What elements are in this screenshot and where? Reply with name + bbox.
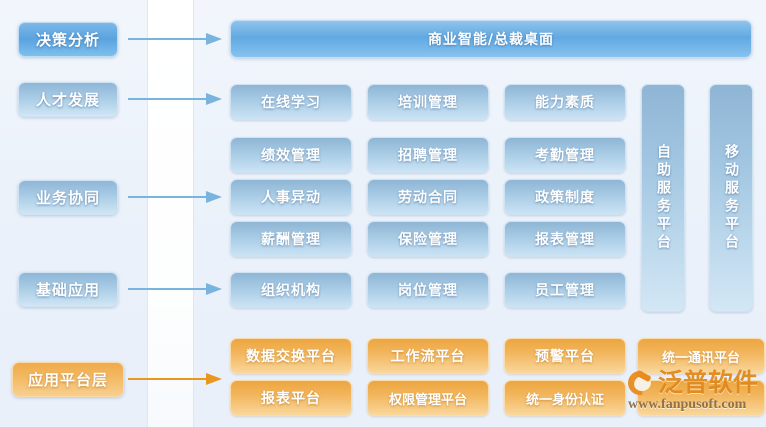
module-tile-label: 能力素质 [535, 92, 595, 112]
module-tile-compensation-management[interactable]: 薪酬管理 [230, 221, 352, 257]
module-tile-label: 考勤管理 [535, 145, 595, 165]
module-tile-label: 岗位管理 [398, 280, 458, 300]
arrow-head-icon [206, 93, 222, 105]
module-tile-label: 薪酬管理 [261, 229, 321, 249]
banner-business-intelligence[interactable]: 商业智能/总裁桌面 [230, 20, 752, 58]
arrow-shaft [128, 38, 208, 40]
platform-tile-label: 报表平台 [261, 388, 321, 408]
arrow-head-icon [206, 373, 222, 385]
vertical-bar-mobile-service-platform[interactable]: 移动服务平台 [709, 84, 753, 312]
stage-label-text: 业务协同 [36, 187, 100, 208]
module-tile-label: 政策制度 [535, 187, 595, 207]
arrow-head-icon [206, 283, 222, 295]
background-white-band [147, 0, 193, 427]
module-tile-attendance-management[interactable]: 考勤管理 [504, 137, 626, 173]
platform-tile-label: 权限管理平台 [389, 389, 467, 408]
platform-tile-obscured[interactable] [637, 380, 765, 416]
module-tile-online-learning[interactable]: 在线学习 [230, 84, 352, 120]
module-tile-label: 人事异动 [261, 187, 321, 207]
platform-tile-workflow[interactable]: 工作流平台 [367, 338, 489, 374]
vertical-bar-label: 自助服务平台 [653, 144, 673, 252]
platform-tile-data-exchange[interactable]: 数据交换平台 [230, 338, 352, 374]
stage-label-text: 决策分析 [36, 29, 100, 50]
module-tile-organization-structure[interactable]: 组织机构 [230, 272, 352, 308]
module-tile-label: 保险管理 [398, 229, 458, 249]
arrow-head-icon [206, 191, 222, 203]
stage-arrow-application-platform [128, 373, 222, 385]
module-tile-label: 劳动合同 [398, 187, 458, 207]
module-tile-policy-system[interactable]: 政策制度 [504, 179, 626, 215]
vertical-bar-label: 移动服务平台 [721, 144, 741, 252]
platform-tile-label: 数据交换平台 [246, 346, 336, 366]
vertical-bar-self-service-platform[interactable]: 自助服务平台 [641, 84, 685, 312]
module-tile-recruitment-management[interactable]: 招聘管理 [367, 137, 489, 173]
module-tile-performance-management[interactable]: 绩效管理 [230, 137, 352, 173]
module-tile-training-management[interactable]: 培训管理 [367, 84, 489, 120]
banner-label: 商业智能/总裁桌面 [428, 29, 554, 49]
stage-label-application-platform[interactable]: 应用平台层 [12, 362, 124, 397]
module-tile-label: 组织机构 [261, 280, 321, 300]
stage-arrow-decision-analysis [128, 33, 222, 45]
stage-arrow-business-collaboration [128, 191, 222, 203]
stage-label-text: 应用平台层 [28, 369, 108, 390]
stage-label-decision-analysis[interactable]: 决策分析 [18, 22, 118, 57]
guide-line-left [147, 0, 148, 427]
stage-label-text: 基础应用 [36, 279, 100, 300]
arrow-shaft [128, 378, 208, 380]
module-tile-label: 招聘管理 [398, 145, 458, 165]
platform-tile-label: 预警平台 [535, 346, 595, 366]
module-tile-insurance-management[interactable]: 保险管理 [367, 221, 489, 257]
arrow-shaft [128, 196, 208, 198]
platform-tile-label: 工作流平台 [391, 346, 466, 366]
platform-tile-authorization-management[interactable]: 权限管理平台 [367, 380, 489, 416]
platform-tile-reporting[interactable]: 报表平台 [230, 380, 352, 416]
platform-tile-label: 统一身份认证 [526, 389, 604, 408]
module-tile-label: 在线学习 [261, 92, 321, 112]
platform-tile-label: 统一通讯平台 [662, 347, 740, 366]
stage-label-talent-development[interactable]: 人才发展 [18, 82, 118, 117]
diagram-canvas: 决策分析 人才发展 业务协同 基础应用 应用平台层 商业智能/总裁桌面 在线学习 [0, 0, 766, 427]
platform-tile-unified-identity-authentication[interactable]: 统一身份认证 [504, 380, 626, 416]
platform-tile-early-warning[interactable]: 预警平台 [504, 338, 626, 374]
module-tile-label: 员工管理 [535, 280, 595, 300]
module-tile-personnel-change[interactable]: 人事异动 [230, 179, 352, 215]
stage-label-text: 人才发展 [36, 89, 100, 110]
module-tile-label: 培训管理 [398, 92, 458, 112]
module-tile-competency[interactable]: 能力素质 [504, 84, 626, 120]
stage-arrow-basic-application [128, 283, 222, 295]
arrow-shaft [128, 288, 208, 290]
module-tile-report-management[interactable]: 报表管理 [504, 221, 626, 257]
platform-tile-unified-communication[interactable]: 统一通讯平台 [637, 338, 765, 374]
arrow-shaft [128, 98, 208, 100]
arrow-head-icon [206, 33, 222, 45]
module-tile-label: 绩效管理 [261, 145, 321, 165]
module-tile-labor-contract[interactable]: 劳动合同 [367, 179, 489, 215]
module-tile-position-management[interactable]: 岗位管理 [367, 272, 489, 308]
guide-line-right [193, 0, 194, 427]
module-tile-employee-management[interactable]: 员工管理 [504, 272, 626, 308]
stage-arrow-talent-development [128, 93, 222, 105]
stage-label-basic-application[interactable]: 基础应用 [18, 272, 118, 307]
module-tile-label: 报表管理 [535, 229, 595, 249]
stage-label-business-collaboration[interactable]: 业务协同 [18, 180, 118, 215]
